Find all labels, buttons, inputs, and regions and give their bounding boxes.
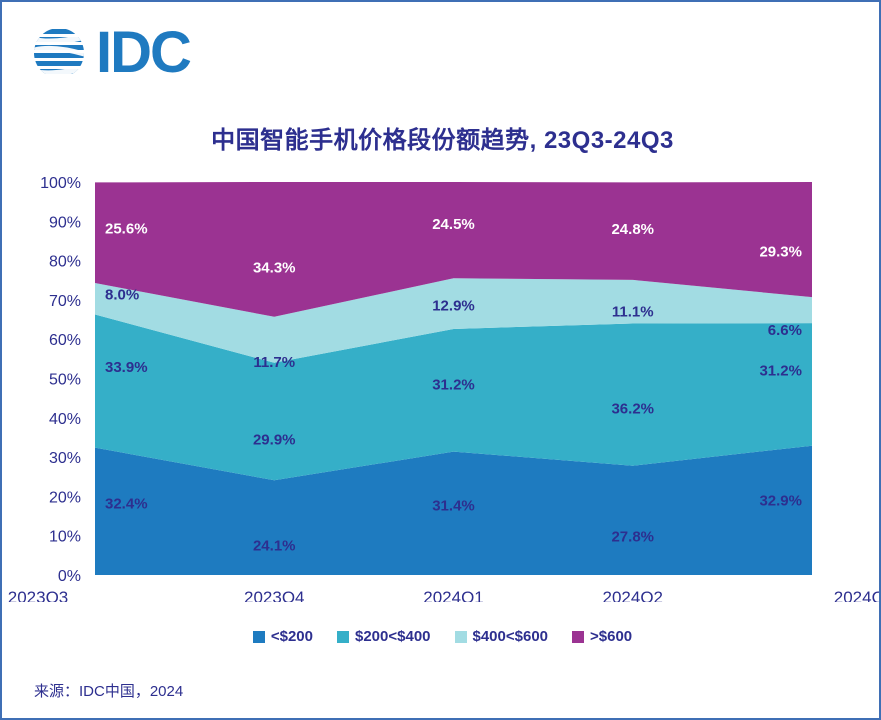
- idc-logo-text: IDC: [96, 24, 190, 82]
- chart-legend: <$200$200<$400$400<$600>$600: [2, 628, 881, 645]
- data-label: 6.6%: [768, 322, 802, 339]
- x-axis-tick-label: 2023Q3: [8, 588, 69, 602]
- y-axis-tick-label: 100%: [40, 175, 81, 192]
- chart-title: 中国智能手机价格段份额趋势, 23Q3-24Q3: [2, 120, 881, 155]
- legend-item[interactable]: <$200: [253, 628, 313, 645]
- y-axis-tick-label: 0%: [58, 568, 81, 585]
- x-axis-tick-label: 2024Q3: [834, 588, 881, 602]
- data-label: 36.2%: [611, 401, 654, 418]
- data-label: 11.7%: [253, 354, 295, 371]
- y-axis-tick-label: 30%: [49, 450, 81, 467]
- data-label: 24.5%: [432, 216, 475, 233]
- y-axis-tick-label: 20%: [49, 489, 81, 506]
- x-axis-tick-label: 2024Q2: [603, 588, 664, 602]
- legend-swatch-icon: [572, 631, 584, 643]
- data-label: 25.6%: [105, 221, 148, 238]
- x-axis: 2023Q32023Q42024Q12024Q22024Q3: [8, 588, 881, 602]
- data-label: 31.2%: [432, 376, 475, 393]
- y-axis-tick-label: 10%: [49, 529, 81, 546]
- data-label: 32.4%: [105, 495, 148, 512]
- data-label: 31.2%: [759, 362, 802, 379]
- legend-label: $400<$600: [473, 628, 549, 645]
- x-axis-tick-label: 2024Q1: [423, 588, 484, 602]
- idc-logo: IDC: [30, 24, 190, 82]
- data-label: 12.9%: [432, 298, 475, 315]
- data-label: 31.4%: [432, 497, 475, 514]
- y-axis-tick-label: 50%: [49, 372, 81, 389]
- y-axis-tick-label: 40%: [49, 411, 81, 428]
- data-label: 29.3%: [759, 244, 802, 261]
- y-axis-tick-label: 90%: [49, 214, 81, 231]
- legend-swatch-icon: [455, 631, 467, 643]
- data-label: 29.9%: [253, 432, 296, 449]
- legend-item[interactable]: >$600: [572, 628, 632, 645]
- idc-globe-icon: [30, 24, 88, 82]
- source-note: 来源：IDC中国，2024: [34, 680, 183, 701]
- data-label: 33.9%: [105, 359, 148, 376]
- chart-canvas: 0%10%20%30%40%50%60%70%80%90%100% 32.4%2…: [2, 162, 881, 602]
- legend-swatch-icon: [337, 631, 349, 643]
- legend-item[interactable]: $400<$600: [455, 628, 549, 645]
- data-label: 27.8%: [611, 528, 654, 545]
- y-axis-tick-label: 80%: [49, 254, 81, 271]
- legend-swatch-icon: [253, 631, 265, 643]
- x-axis-tick-label: 2023Q4: [244, 588, 305, 602]
- y-axis: 0%10%20%30%40%50%60%70%80%90%100%: [40, 175, 81, 585]
- data-label: 32.9%: [759, 492, 802, 509]
- legend-label: $200<$400: [355, 628, 431, 645]
- legend-label: <$200: [271, 628, 313, 645]
- data-label: 11.1%: [612, 304, 654, 321]
- stacked-area-chart: 0%10%20%30%40%50%60%70%80%90%100% 32.4%2…: [2, 162, 881, 602]
- y-axis-tick-label: 70%: [49, 293, 81, 310]
- legend-label: >$600: [590, 628, 632, 645]
- chart-page: IDC 中国智能手机价格段份额趋势, 23Q3-24Q3 0%10%20%30%…: [0, 0, 881, 720]
- legend-item[interactable]: $200<$400: [337, 628, 431, 645]
- data-label: 34.3%: [253, 259, 296, 276]
- y-axis-tick-label: 60%: [49, 332, 81, 349]
- data-label: 24.1%: [253, 538, 296, 555]
- data-label: 8.0%: [105, 287, 139, 304]
- data-label: 24.8%: [611, 221, 654, 238]
